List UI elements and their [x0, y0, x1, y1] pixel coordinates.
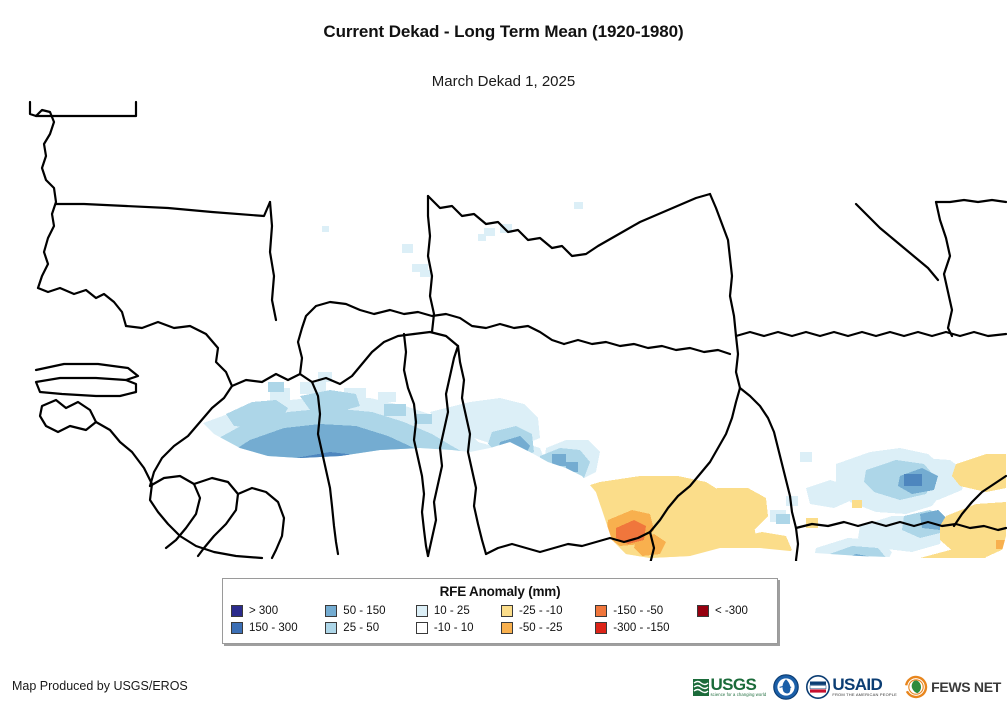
legend-label: 10 - 25 — [434, 605, 470, 617]
legend-swatch — [231, 605, 243, 617]
legend-swatch — [595, 605, 607, 617]
legend-column: -25 - -10 -50 - -25 — [501, 602, 589, 636]
page-subtitle: March Dekad 1, 2025 — [0, 73, 1007, 90]
legend-swatch — [231, 622, 243, 634]
map-canvas — [0, 96, 1007, 561]
anomaly-map[interactable] — [0, 96, 1007, 561]
legend-columns: > 300 150 - 300 50 - 150 25 - 50 10 - 25 — [223, 599, 777, 636]
map-credit: Map Produced by USGS/EROS — [12, 679, 188, 693]
legend-label: -10 - 10 — [434, 622, 474, 634]
fewsnet-globe-icon — [904, 675, 928, 699]
usaid-seal-icon — [806, 675, 830, 699]
legend-label: -150 - -50 — [613, 605, 663, 617]
usgs-wave-icon — [693, 679, 709, 696]
legend-label: -300 - -150 — [613, 622, 669, 634]
legend-entry[interactable]: > 300 — [231, 602, 319, 619]
usaid-tagline: FROM THE AMERICAN PEOPLE — [832, 692, 897, 697]
legend-title: RFE Anomaly (mm) — [223, 584, 777, 599]
legend-swatch — [325, 622, 337, 634]
agency-logos: USGS science for a changing world USAID … — [686, 668, 1001, 706]
legend-swatch — [416, 622, 428, 634]
legend-label: 25 - 50 — [343, 622, 379, 634]
fewsnet-logo[interactable]: FEWS NET — [904, 675, 1001, 699]
legend-entry[interactable]: -50 - -25 — [501, 619, 589, 636]
legend-entry[interactable]: 10 - 25 — [416, 602, 495, 619]
legend-column: 10 - 25 -10 - 10 — [416, 602, 495, 636]
legend-label: 150 - 300 — [249, 622, 298, 634]
legend-swatch — [325, 605, 337, 617]
fewsnet-wordmark: FEWS NET — [931, 679, 1001, 695]
legend-column: < -300 — [697, 602, 765, 619]
legend-entry[interactable]: 25 - 50 — [325, 619, 410, 636]
legend-entry[interactable]: < -300 — [697, 602, 765, 619]
legend-label: -25 - -10 — [519, 605, 562, 617]
legend-swatch — [595, 622, 607, 634]
legend-entry[interactable]: 150 - 300 — [231, 619, 319, 636]
legend-column: > 300 150 - 300 — [231, 602, 319, 636]
page-title: Current Dekad - Long Term Mean (1920-198… — [0, 22, 1007, 42]
legend-swatch — [501, 605, 513, 617]
legend-label: 50 - 150 — [343, 605, 385, 617]
noaa-logo[interactable] — [773, 674, 799, 700]
legend-label: < -300 — [715, 605, 748, 617]
noaa-seal-icon — [773, 674, 799, 700]
legend-entry[interactable]: -300 - -150 — [595, 619, 691, 636]
legend-entry[interactable]: -150 - -50 — [595, 602, 691, 619]
legend-column: 50 - 150 25 - 50 — [325, 602, 410, 636]
legend-entry[interactable]: 50 - 150 — [325, 602, 410, 619]
legend-column: -150 - -50 -300 - -150 — [595, 602, 691, 636]
usgs-wordmark: USGS — [710, 677, 766, 692]
usaid-logo[interactable]: USAID FROM THE AMERICAN PEOPLE — [806, 675, 897, 699]
usgs-logo[interactable]: USGS science for a changing world — [693, 677, 766, 697]
legend-entry[interactable]: -25 - -10 — [501, 602, 589, 619]
legend-swatch — [501, 622, 513, 634]
usaid-wordmark: USAID — [832, 677, 897, 692]
legend-swatch — [416, 605, 428, 617]
legend-swatch — [697, 605, 709, 617]
legend-entry[interactable]: -10 - 10 — [416, 619, 495, 636]
legend-label: -50 - -25 — [519, 622, 562, 634]
legend-label: > 300 — [249, 605, 278, 617]
map-legend: RFE Anomaly (mm) > 300 150 - 300 50 - 15… — [222, 578, 778, 644]
usgs-tagline: science for a changing world — [710, 692, 766, 697]
